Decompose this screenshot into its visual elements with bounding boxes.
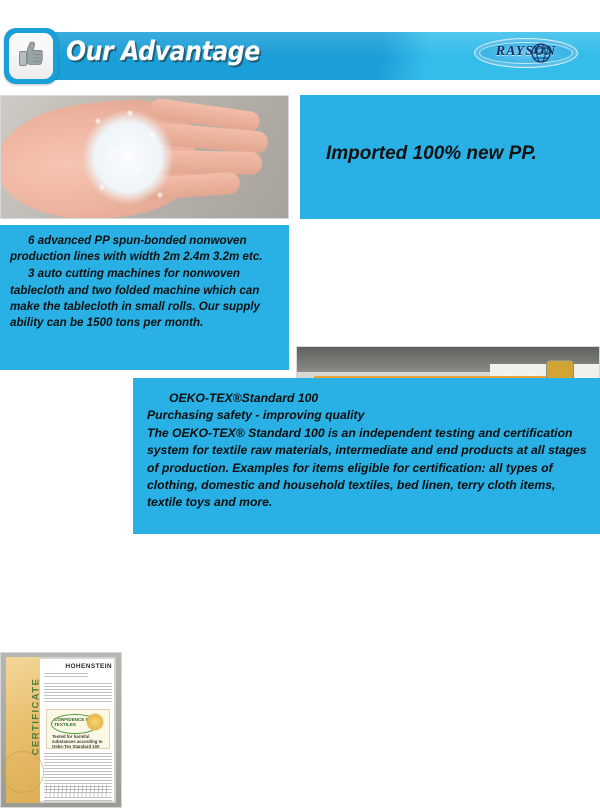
page-header: Our Advantage RAYSON	[0, 28, 600, 84]
oeko-tex-certificate-photo: CERTIFICATE HOHENSTEIN CONFIDENCE IN TEX…	[0, 652, 122, 808]
brand-name: RAYSON	[474, 44, 578, 60]
oeko-tex-description-panel: OEKO-TEX®Standard 100 Purchasing safety …	[133, 378, 600, 534]
oeko-tex-title: OEKO-TEX®Standard 100	[147, 390, 590, 407]
oeko-tex-subtitle: Purchasing safety - improving quality	[147, 407, 590, 424]
pp-headline-text: Imported 100% new PP.	[326, 143, 537, 165]
oeko-tex-body: The OEKO-TEX® Standard 100 is an indepen…	[147, 425, 590, 512]
thumbs-up-icon	[16, 40, 46, 72]
brand-logo[interactable]: RAYSON	[474, 38, 578, 68]
thumbs-up-icon-badge	[4, 28, 58, 84]
oeko-tex-description-body: OEKO-TEX®Standard 100 Purchasing safety …	[147, 390, 590, 512]
production-paragraph-2: 3 auto cutting machines for nonwoven tab…	[10, 266, 281, 331]
pp-pellets-photo	[0, 95, 289, 219]
thumbs-up-icon-inner	[9, 33, 53, 79]
photo-frame	[0, 95, 289, 219]
advantage-page: Our Advantage RAYSON Imported 100% new P…	[0, 0, 600, 600]
pp-headline-panel: Imported 100% new PP.	[300, 95, 600, 219]
photo-frame	[0, 652, 122, 808]
globe-icon	[529, 41, 553, 65]
page-title: Our Advantage	[66, 36, 260, 67]
production-paragraph-1: 6 advanced PP spun-bonded nonwoven produ…	[10, 233, 281, 265]
production-capability-panel: 6 advanced PP spun-bonded nonwoven produ…	[0, 225, 289, 370]
production-capability-body: 6 advanced PP spun-bonded nonwoven produ…	[10, 233, 281, 331]
